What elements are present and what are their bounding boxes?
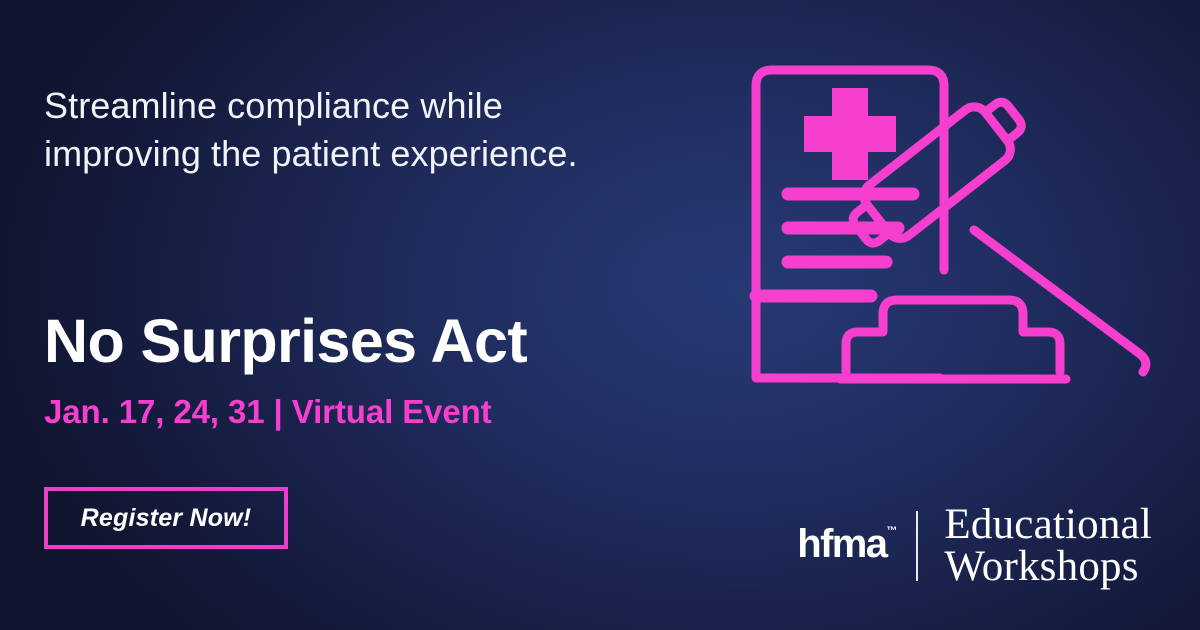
hfma-logo: hfma™: [797, 524, 886, 568]
tagline-line-1: Streamline compliance while: [44, 82, 664, 130]
event-dateline: Jan. 17, 24, 31 | Virtual Event: [44, 392, 492, 432]
program-name-line-2: Workshops: [944, 546, 1152, 588]
page-title: No Surprises Act: [44, 310, 527, 373]
medical-cross-path: [804, 88, 896, 180]
logo-divider: [916, 511, 918, 581]
logo-lockup: hfma™ Educational Workshops: [797, 504, 1152, 588]
sound-block-path: [846, 300, 1060, 372]
program-name: Educational Workshops: [944, 504, 1152, 588]
hfma-wordmark: hfma: [797, 522, 886, 566]
tagline: Streamline compliance while improving th…: [44, 82, 664, 177]
trademark-icon: ™: [886, 526, 897, 537]
program-name-line-1: Educational: [944, 504, 1152, 546]
tagline-line-2: improving the patient experience.: [44, 130, 664, 178]
register-now-label: Register Now!: [81, 504, 252, 533]
promo-banner: Streamline compliance while improving th…: [0, 0, 1200, 630]
content-column: Streamline compliance while improving th…: [44, 0, 704, 630]
register-now-button[interactable]: Register Now!: [44, 487, 288, 549]
medical-document-gavel-illustration: [728, 42, 1178, 402]
